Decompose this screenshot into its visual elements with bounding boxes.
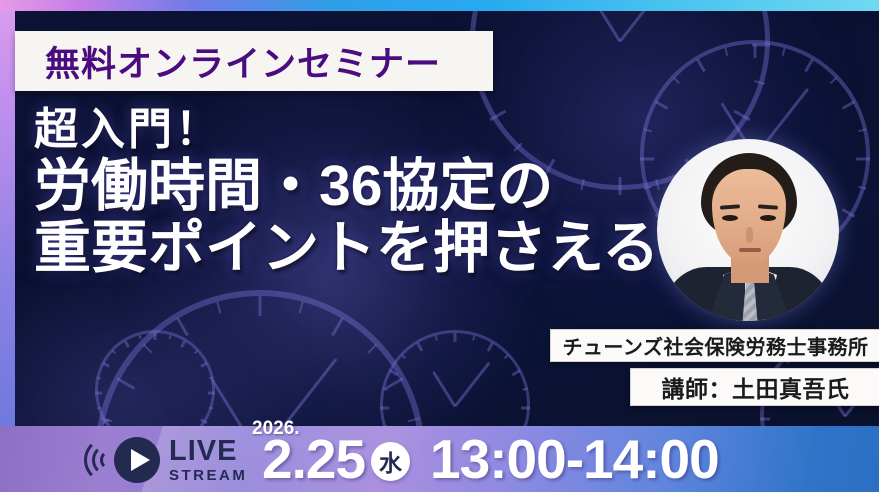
portrait-nose — [746, 227, 753, 243]
seminar-label-bar: 無料オンラインセミナー — [15, 31, 493, 91]
date-time-row: 2.25 水 13:00-14:00 — [262, 426, 719, 492]
headline-line-3: 重要ポイントを押さえる — [34, 219, 674, 277]
portrait-brow-left — [720, 204, 740, 209]
portrait-brow-right — [758, 204, 778, 209]
live-stream-wordmark: LIVE STREAM — [169, 437, 247, 483]
top-accent-gradient — [0, 0, 879, 11]
portrait-eye-right — [760, 215, 776, 221]
weekday-badge: 水 — [371, 442, 410, 481]
seminar-label-text: 無料オンラインセミナー — [45, 36, 441, 87]
live-stream-logo: LIVE STREAM — [82, 431, 252, 489]
portrait-eye-left — [722, 215, 738, 221]
headline-line-1: 超入門！ — [34, 108, 674, 153]
headline-block: 超入門！ 労働時間・36協定の 重要ポイントを押さえる — [34, 108, 674, 277]
live-text: LIVE — [169, 437, 247, 466]
lecturer-portrait — [657, 139, 839, 321]
portrait-face — [712, 169, 786, 263]
lecturer-name-bar: 講師：土田真吾氏 — [630, 368, 879, 406]
left-accent-gradient — [0, 11, 15, 426]
office-name-text: チューンズ社会保険労務士事務所 — [562, 331, 868, 360]
play-triangle-icon — [131, 449, 150, 471]
play-button-icon — [114, 437, 160, 483]
office-name-bar: チューンズ社会保険労務士事務所 — [550, 329, 879, 362]
headline-line-2: 労働時間・36協定の — [34, 157, 674, 215]
portrait-mouth — [739, 248, 761, 252]
broadcast-waves-icon — [82, 436, 110, 484]
time-text: 13:00-14:00 — [430, 432, 719, 487]
webinar-banner: 無料オンラインセミナー 超入門！ 労働時間・36協定の 重要ポイントを押さえる … — [0, 0, 879, 492]
stream-text: STREAM — [169, 468, 247, 483]
date-text: 2.25 — [262, 432, 365, 487]
lecturer-name-text: 講師：土田真吾氏 — [662, 370, 850, 404]
